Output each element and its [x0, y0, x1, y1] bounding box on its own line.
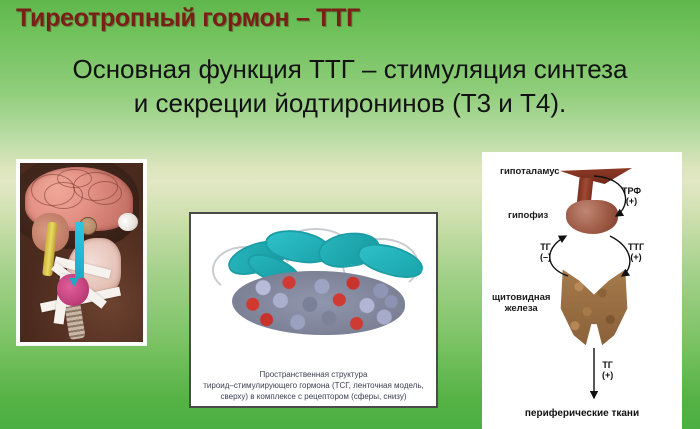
figure-anatomy-head-neck	[17, 160, 146, 345]
axis-arrows	[482, 152, 682, 429]
label-peripheral-tissues: периферические ткани	[482, 408, 682, 419]
slide-title: Тиреотропный гормон – ТТГ	[16, 4, 360, 33]
arrow-label-ttg: ТТГ (+)	[628, 242, 644, 262]
arrow-label-tg-pos: ТГ (+)	[602, 360, 613, 380]
pointer-arrow-icon	[75, 222, 84, 277]
arrow-label-tg-neg: ТГ (–)	[540, 242, 551, 262]
protein-figure-caption: Пространственная структура тироид–стимул…	[191, 369, 436, 402]
arrow-label-trf: ТРФ (+)	[622, 186, 641, 206]
protein-canvas	[193, 216, 434, 340]
figure-hpt-axis-diagram: гипоталамус гипофиз щитовидная железа ТР…	[482, 152, 682, 429]
label-pituitary: гипофиз	[508, 210, 548, 221]
slide-subtitle: Основная функция ТТГ – стимуляция синтез…	[0, 52, 700, 120]
label-thyroid: щитовидная железа	[492, 292, 550, 314]
figure-tsh-protein-structure: Пространственная структура тироид–стимул…	[189, 212, 438, 408]
receptor-sphere-model	[232, 271, 406, 335]
label-hypothalamus: гипоталамус	[500, 166, 560, 177]
anatomy-canvas	[20, 163, 143, 342]
eye	[118, 213, 138, 231]
